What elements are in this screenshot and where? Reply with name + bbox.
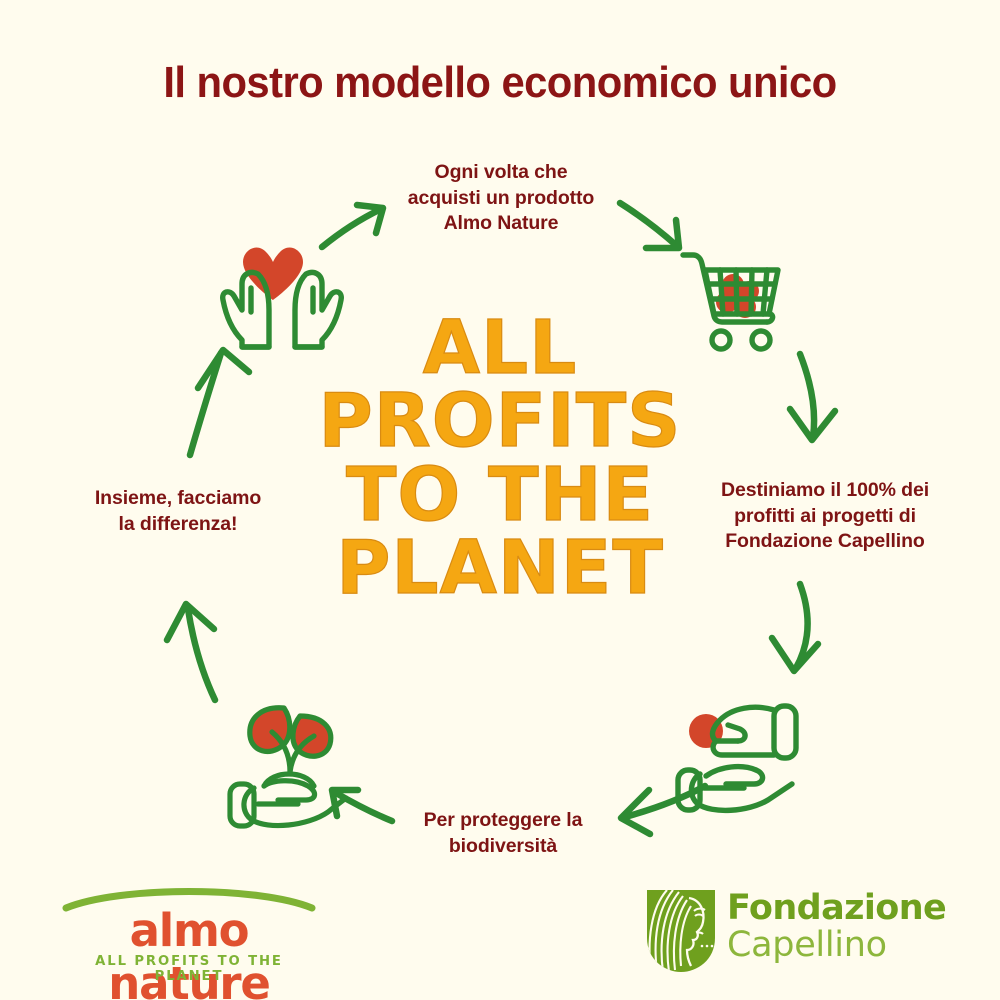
- capellino-line: Capellino: [727, 927, 946, 964]
- step-label-purchase-line-3: Almo Nature: [444, 212, 559, 234]
- step-label-together: Insieme, facciamo la differenza!: [52, 486, 304, 537]
- center-wordmark-line-2: PROFITS: [300, 385, 700, 458]
- step-label-purchase-line-2: acquisti un prodotto: [408, 187, 594, 209]
- center-wordmark-line-4: PLANET: [300, 532, 700, 605]
- step-label-profits-line-3: Fondazione Capellino: [725, 530, 925, 552]
- step-label-purchase-line-1: Ogni volta che: [435, 161, 568, 183]
- coin-shape: [689, 714, 723, 748]
- step-label-biodiversity: Per proteggere la biodiversità: [372, 808, 634, 859]
- fondazione-capellino-wordmark: Fondazione Capellino: [727, 890, 946, 964]
- arrow-profits-to-donation: [772, 584, 818, 671]
- step-label-purchase: Ogni volta che acquisti un prodotto Almo…: [370, 160, 632, 237]
- center-wordmark: ALL PROFITS TO THE PLANET: [300, 312, 700, 605]
- step-label-together-line-2: la differenza!: [119, 513, 238, 535]
- arrow-together-to-heart: [190, 350, 249, 455]
- almo-nature-logo: almo nature ALL PROFITS TO THE PLANET: [60, 888, 318, 970]
- page-title: Il nostro modello economico unico: [25, 58, 975, 108]
- step-label-biodiversity-line-1: Per proteggere la: [424, 809, 583, 831]
- fondazione-capellino-shield-icon: [645, 888, 717, 974]
- arrow-plant-to-together: [167, 604, 215, 700]
- step-label-profits: Destiniamo il 100% dei profitti ai proge…: [690, 478, 960, 555]
- fondazione-line: Fondazione: [727, 890, 946, 927]
- step-label-profits-line-1: Destiniamo il 100% dei: [721, 479, 929, 501]
- step-label-biodiversity-line-2: biodiversità: [449, 835, 557, 857]
- cart-contents: [716, 274, 759, 318]
- infographic-poster: Il nostro modello economico unico ALL PR…: [0, 0, 1000, 1000]
- center-wordmark-line-3: TO THE: [300, 459, 700, 532]
- arrow-cart-to-profits: [790, 354, 835, 440]
- step-label-profits-line-2: profitti ai progetti di: [734, 505, 916, 527]
- hand-giving-coin-icon: [678, 706, 796, 810]
- center-wordmark-line-1: ALL: [300, 312, 700, 385]
- fondazione-capellino-logo: Fondazione Capellino: [645, 888, 945, 974]
- almo-nature-wordmark: almo nature: [60, 904, 318, 1000]
- step-label-together-line-1: Insieme, facciamo: [95, 487, 261, 509]
- hand-holding-plant-icon: [230, 708, 346, 826]
- almo-nature-tagline: ALL PROFITS TO THE PLANET: [60, 954, 318, 984]
